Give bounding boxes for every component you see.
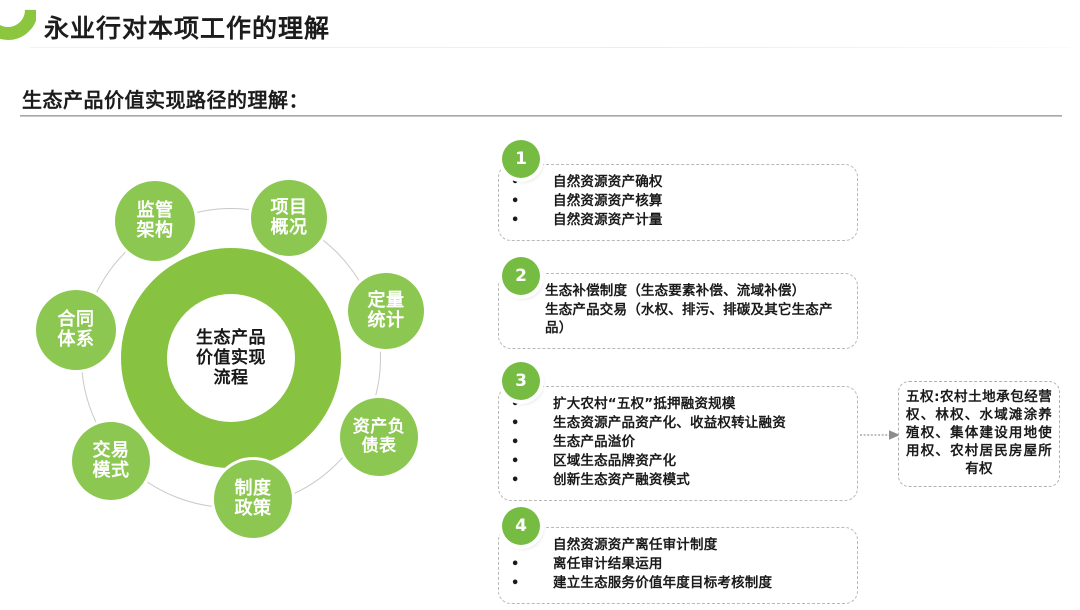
list-item-text: 生态产品溢价 bbox=[553, 434, 847, 452]
list-item: • 自然资源资产确权 bbox=[511, 174, 847, 192]
cycle-node-label: 制度 政策 bbox=[235, 479, 272, 519]
list-item-text: 生态补偿制度（生态要素补偿、流域补偿） bbox=[545, 283, 847, 301]
page-title: 永业行对本项工作的理解 bbox=[44, 9, 330, 45]
list-item: • 生态资源产品资产化、收益权转让融资 bbox=[511, 415, 847, 433]
list-item-text: 创新生态资产融资模式 bbox=[553, 472, 847, 490]
bullet-icon: • bbox=[511, 472, 553, 489]
step-list-4: 自然资源资产离任审计制度 • 离任审计结果运用 • 建立生态服务价值年度目标考核… bbox=[511, 537, 847, 593]
list-item: 自然资源资产离任审计制度 bbox=[511, 537, 847, 555]
logo-ring-shape bbox=[0, 0, 36, 52]
side-note-card: 五权:农村土地承包经营权、林权、水域滩涂养殖权、集体建设用地使用权、农村居民房屋… bbox=[898, 381, 1060, 487]
cycle-node-contract-system[interactable]: 合同 体系 bbox=[36, 290, 116, 370]
cycle-node-project-overview[interactable]: 项目 概况 bbox=[251, 180, 327, 256]
bullet-icon: • bbox=[511, 575, 553, 592]
step-badge-3[interactable]: 3 bbox=[502, 362, 540, 400]
list-item: • 创新生态资产融资模式 bbox=[511, 472, 847, 490]
arrow-right-icon bbox=[860, 429, 900, 441]
step-badge-1[interactable]: 1 bbox=[502, 140, 540, 178]
cycle-core-donut: 生态产品 价值实现 流程 bbox=[121, 248, 341, 468]
cycle-core-label: 生态产品 价值实现 流程 bbox=[196, 328, 266, 388]
list-item: 生态产品交易（水权、排污、排碳及其它生态产品） bbox=[545, 302, 847, 338]
list-item: • 生态产品溢价 bbox=[511, 434, 847, 452]
cycle-node-regulatory-framework[interactable]: 监管 架构 bbox=[115, 181, 195, 261]
list-item: • 区域生态品牌资产化 bbox=[511, 453, 847, 471]
bullet-icon: • bbox=[511, 193, 553, 210]
section-divider bbox=[20, 115, 1062, 117]
cycle-core-inner-circle: 生态产品 价值实现 流程 bbox=[167, 294, 295, 422]
cycle-diagram: 生态产品 价值实现 流程 项目 概况 定量 统计 资产负 债表 制度 政策 交易… bbox=[18, 160, 448, 580]
section-heading: 生态产品价值实现路径的理解： bbox=[22, 84, 309, 113]
list-item: • 自然资源资产核算 bbox=[511, 193, 847, 211]
steps-column: 1 • 自然资源资产确权 • 自然资源资产核算 • 自然资源资产计量 2 bbox=[498, 140, 878, 600]
cycle-node-transaction-model[interactable]: 交易 模式 bbox=[72, 422, 150, 500]
step-list-2: 生态补偿制度（生态要素补偿、流域补偿） 生态产品交易（水权、排污、排碳及其它生态… bbox=[545, 283, 847, 338]
list-item-text: 生态产品交易（水权、排污、排碳及其它生态产品） bbox=[545, 302, 847, 338]
cycle-node-label: 资产负 债表 bbox=[353, 418, 406, 455]
list-item-text: 自然资源资产离任审计制度 bbox=[553, 537, 847, 555]
cycle-node-policy-system[interactable]: 制度 政策 bbox=[214, 460, 292, 538]
cycle-node-balance-sheet[interactable]: 资产负 债表 bbox=[340, 398, 418, 476]
list-item: • 离任审计结果运用 bbox=[511, 556, 847, 574]
list-item-text: 自然资源资产计量 bbox=[553, 212, 847, 230]
slide-header: YYX 永业行对本项工作的理解 bbox=[0, 0, 1080, 52]
step-card-1: • 自然资源资产确权 • 自然资源资产核算 • 自然资源资产计量 bbox=[498, 164, 858, 241]
list-item-text: 自然资源资产确权 bbox=[553, 174, 847, 192]
cycle-node-label: 监管 架构 bbox=[137, 201, 174, 241]
step-list-1: • 自然资源资产确权 • 自然资源资产核算 • 自然资源资产计量 bbox=[511, 174, 847, 230]
cycle-node-label: 项目 概况 bbox=[271, 198, 308, 238]
step-badge-4[interactable]: 4 bbox=[502, 507, 540, 545]
cycle-node-label: 合同 体系 bbox=[58, 310, 95, 350]
step-list-3: • 扩大农村“五权”抵押融资规模 • 生态资源产品资产化、收益权转让融资 • 生… bbox=[511, 396, 847, 490]
list-item: • 建立生态服务价值年度目标考核制度 bbox=[511, 575, 847, 593]
cycle-node-label: 定量 统计 bbox=[368, 291, 405, 331]
step-badge-2[interactable]: 2 bbox=[502, 257, 540, 295]
list-item-text: 建立生态服务价值年度目标考核制度 bbox=[553, 575, 847, 593]
step-card-2: 生态补偿制度（生态要素补偿、流域补偿） 生态产品交易（水权、排污、排碳及其它生态… bbox=[498, 273, 858, 349]
bullet-icon: • bbox=[511, 212, 553, 229]
step-card-3: • 扩大农村“五权”抵押融资规模 • 生态资源产品资产化、收益权转让融资 • 生… bbox=[498, 386, 858, 501]
header-divider bbox=[30, 47, 1070, 48]
list-item-text: 区域生态品牌资产化 bbox=[553, 453, 847, 471]
bullet-icon: • bbox=[511, 415, 553, 432]
list-item-text: 自然资源资产核算 bbox=[553, 193, 847, 211]
green-c-logo-icon: YYX bbox=[0, 0, 36, 52]
list-item-text: 扩大农村“五权”抵押融资规模 bbox=[553, 396, 847, 414]
bullet-icon: • bbox=[511, 453, 553, 470]
list-item: • 扩大农村“五权”抵押融资规模 bbox=[511, 396, 847, 414]
list-item-text: 离任审计结果运用 bbox=[553, 556, 847, 574]
bullet-icon: • bbox=[511, 434, 553, 451]
cycle-node-label: 交易 模式 bbox=[93, 441, 130, 481]
list-item-text: 生态资源产品资产化、收益权转让融资 bbox=[553, 415, 847, 433]
step-card-4: 自然资源资产离任审计制度 • 离任审计结果运用 • 建立生态服务价值年度目标考核… bbox=[498, 527, 858, 604]
list-item: 生态补偿制度（生态要素补偿、流域补偿） bbox=[545, 283, 847, 301]
bullet-icon: • bbox=[511, 556, 553, 573]
list-item: • 自然资源资产计量 bbox=[511, 212, 847, 230]
side-note-text: 五权:农村土地承包经营权、林权、水域滩涂养殖权、集体建设用地使用权、农村居民房屋… bbox=[906, 389, 1052, 479]
cycle-node-quantitative-statistics[interactable]: 定量 统计 bbox=[348, 273, 424, 349]
